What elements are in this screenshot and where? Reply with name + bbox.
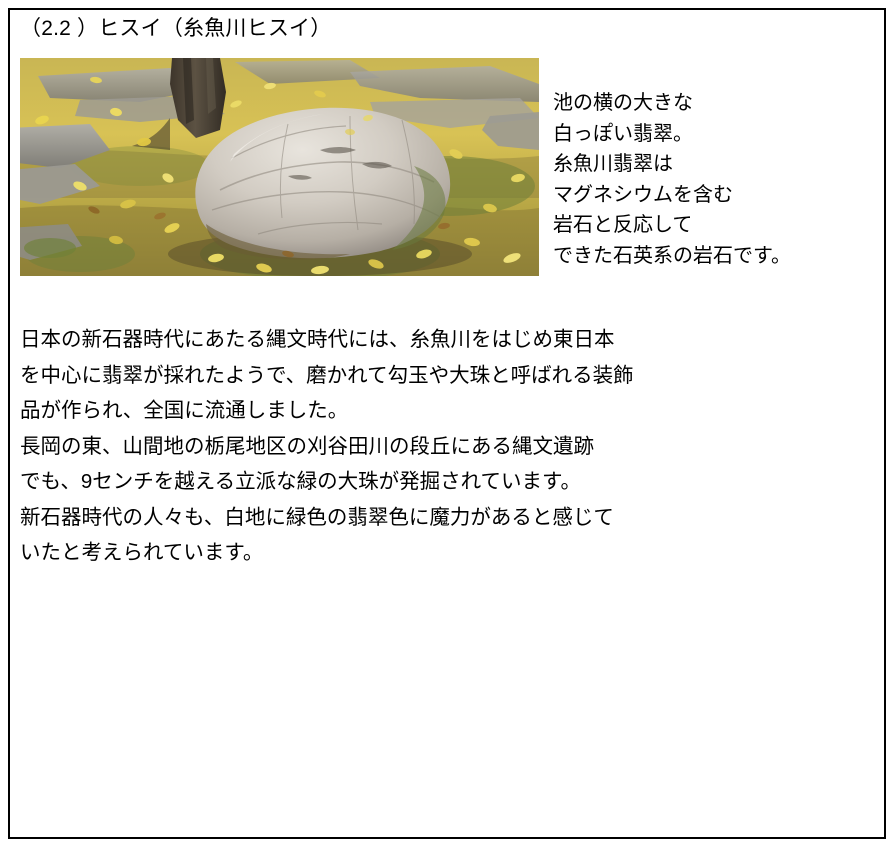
caption-line: 池の横の大きな (553, 88, 883, 119)
caption-line: できた石英系の岩石です。 (553, 241, 883, 272)
photo-caption: 池の横の大きな 白っぽい翡翠。 糸魚川翡翠は マグネシウムを含む 岩石と反応して… (553, 88, 883, 271)
page-title: （2.2 ）ヒスイ（糸魚川ヒスイ） (20, 15, 331, 43)
body-text: 日本の新石器時代にあたる縄文時代には、糸魚川をはじめ東日本 を中心に翡翠が採れた… (20, 322, 878, 571)
caption-line: 岩石と反応して (553, 210, 883, 241)
body-line: 新石器時代の人々も、白地に緑色の翡翠色に魔力があると感じて (20, 500, 878, 536)
body-line: 日本の新石器時代にあたる縄文時代には、糸魚川をはじめ東日本 (20, 322, 878, 358)
body-line: でも、9センチを越える立派な緑の大珠が発掘されています。 (20, 464, 878, 500)
caption-line: 白っぽい翡翠。 (553, 119, 883, 150)
body-line: 長岡の東、山間地の栃尾地区の刈谷田川の段丘にある縄文遺跡 (20, 429, 878, 465)
jade-boulder-photo (20, 58, 539, 276)
body-line: いたと考えられています。 (20, 535, 878, 571)
body-line: を中心に翡翠が採れたようで、磨かれて勾玉や大珠と呼ばれる装飾 (20, 358, 878, 394)
caption-line: 糸魚川翡翠は (553, 149, 883, 180)
document-page-frame: （2.2 ）ヒスイ（糸魚川ヒスイ） (8, 8, 886, 839)
body-line: 品が作られ、全国に流通しました。 (20, 393, 878, 429)
photo-illustration (20, 58, 539, 276)
caption-line: マグネシウムを含む (553, 180, 883, 211)
